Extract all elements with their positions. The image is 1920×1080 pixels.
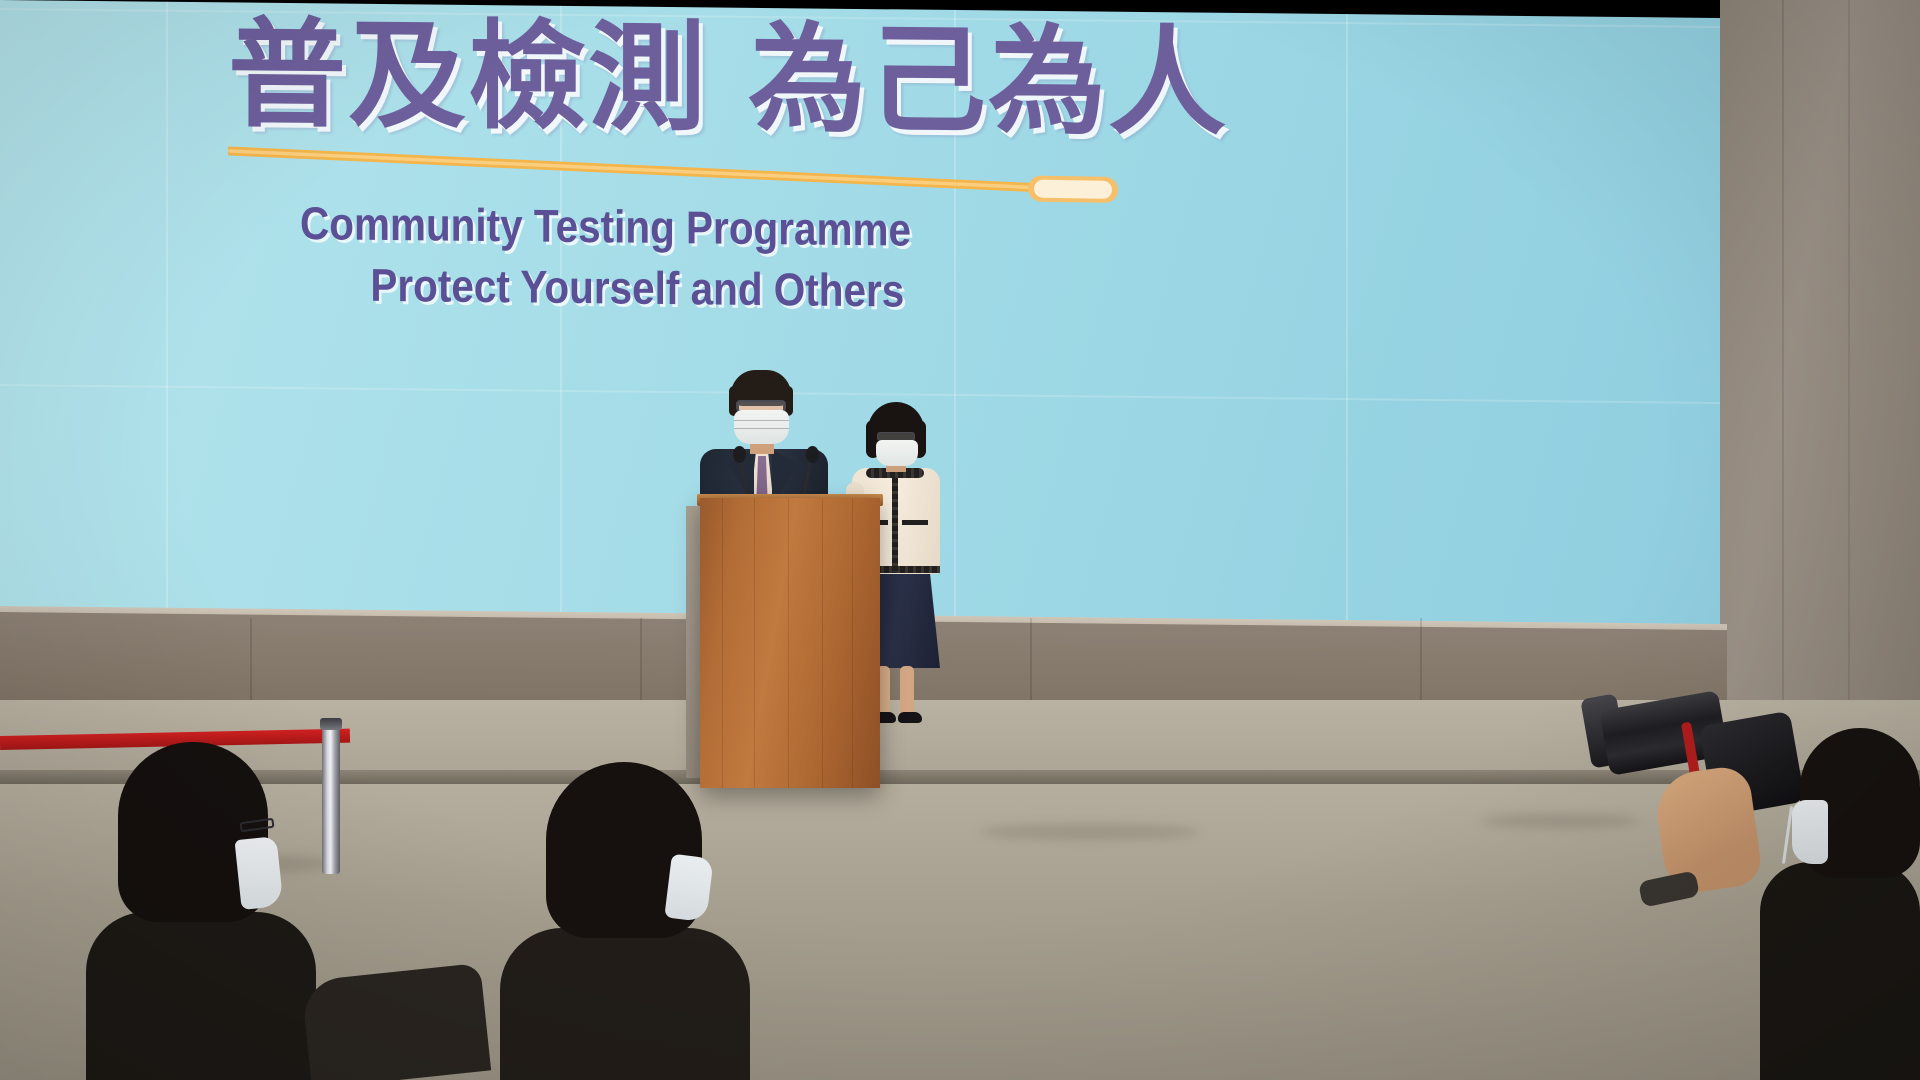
- wall-seam: [1848, 0, 1850, 735]
- subtitle-line-1: Community Testing Programme: [300, 197, 911, 256]
- floor-mark: [1480, 814, 1640, 828]
- surgical-mask-icon: [234, 836, 283, 910]
- broadcast-frame: 普及檢測為己為人 Community Testing Programme Pro…: [0, 0, 1920, 1080]
- jacket-pocket-right: [902, 520, 928, 525]
- headline-cn-phrase-2: 為己為人: [748, 14, 1228, 150]
- panel-seam: [0, 384, 1727, 404]
- raised-arm: [301, 963, 491, 1080]
- wood-grain: [852, 498, 853, 788]
- backdrop-subtitle-english: Community Testing Programme Protect Your…: [300, 193, 1180, 324]
- stanchion-cap: [320, 718, 342, 730]
- torso: [1760, 862, 1920, 1080]
- wood-grain: [754, 498, 755, 788]
- backdrop-headline-chinese: 普及檢測為己為人: [228, 14, 1128, 146]
- wood-grain: [788, 498, 789, 788]
- subtitle-line-2: Protect Yourself and Others: [370, 254, 1180, 324]
- lectern: [700, 498, 880, 788]
- leg-right: [900, 666, 914, 718]
- surgical-mask-icon: [876, 440, 918, 466]
- jacket-button-placket: [892, 470, 898, 572]
- shoe-right: [898, 712, 922, 723]
- wood-grain: [822, 498, 823, 788]
- torso: [500, 928, 750, 1080]
- mask-pleat: [734, 420, 789, 421]
- mic-head: [806, 446, 819, 463]
- surgical-mask-icon: [1792, 800, 1828, 864]
- torso: [86, 912, 316, 1080]
- side-wall-column: [1720, 0, 1920, 735]
- wood-grain: [722, 498, 723, 788]
- wall-seam: [1782, 0, 1784, 735]
- floor-mark: [980, 824, 1200, 840]
- mic-head: [733, 446, 746, 463]
- mask-pleat: [734, 428, 789, 429]
- barrier-stanchion: [322, 724, 340, 874]
- surgical-mask-icon: [734, 410, 789, 444]
- headline-cn-phrase-1: 普及檢測: [228, 9, 708, 145]
